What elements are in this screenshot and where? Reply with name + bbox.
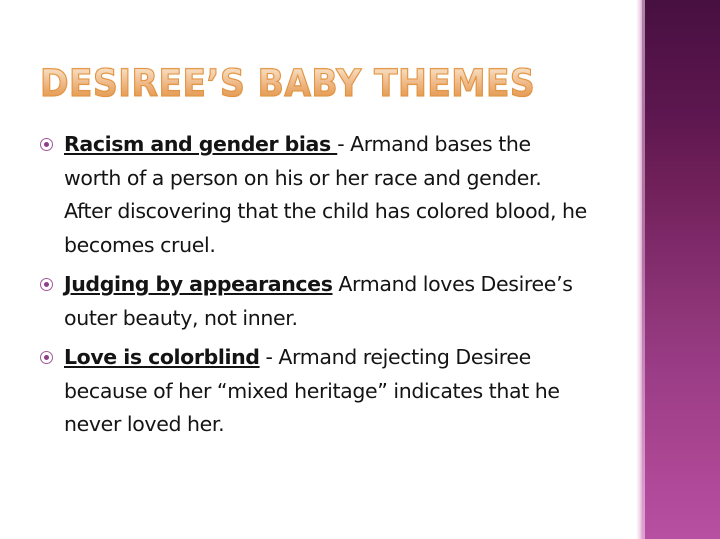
- ring-dot-bullet-icon: [40, 138, 53, 151]
- ring-dot-bullet-icon: [40, 278, 53, 291]
- bullet-lead-term: Love is colorblind: [64, 345, 260, 369]
- bullet-lead-term: Racism and gender bias: [64, 132, 337, 156]
- sidebar-gradient-fill: [642, 0, 720, 539]
- slide-canvas: Desiree’s Baby Themes Racism and gender …: [0, 0, 720, 539]
- sidebar-inner-sheen: [642, 0, 645, 539]
- list-item: Love is colorblind - Armand rejecting De…: [32, 341, 592, 442]
- ring-dot-bullet-icon: [40, 351, 53, 364]
- decorative-sidebar-band: [636, 0, 720, 539]
- themes-bullet-list: Racism and gender bias - Armand bases th…: [32, 128, 592, 448]
- list-item: Judging by appearances Armand loves Desi…: [32, 268, 592, 335]
- list-item: Racism and gender bias - Armand bases th…: [32, 128, 592, 262]
- slide-title: Desiree’s Baby Themes: [40, 63, 535, 105]
- bullet-lead-term: Judging by appearances: [64, 272, 333, 296]
